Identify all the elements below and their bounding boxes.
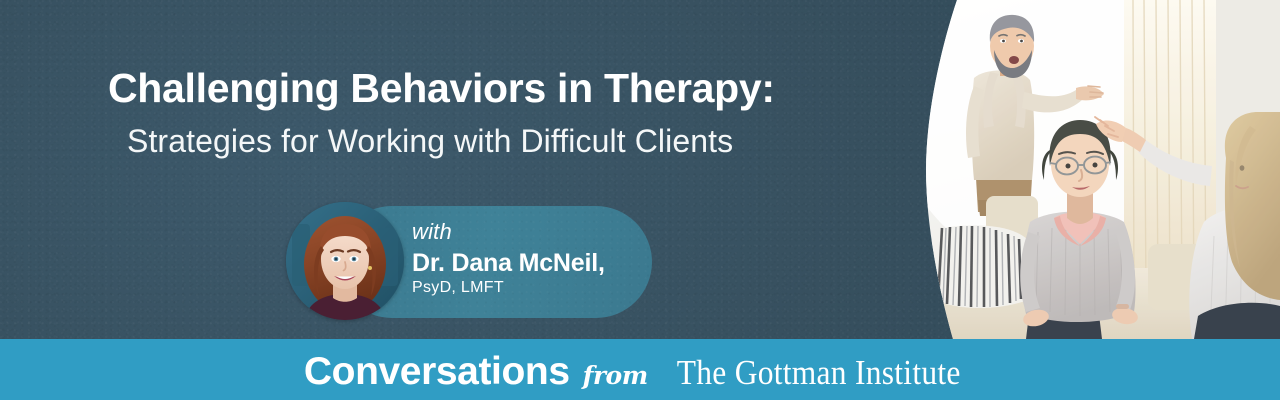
organization-name: The Gottman Institute [676, 355, 960, 390]
avatar [286, 202, 404, 320]
page-title: Challenging Behaviors in Therapy: [108, 66, 868, 112]
speaker-name: Dr. Dana McNeil, [412, 250, 605, 276]
session-photo [920, 0, 1280, 339]
speaker-text-group: with Dr. Dana McNeil, PsyD, LMFT [412, 220, 605, 297]
session-photo-clip [920, 0, 1280, 339]
speaker-with-label: with [412, 220, 605, 244]
series-title: Conversations [304, 352, 570, 391]
webinar-banner: Challenging Behaviors in Therapy: Strate… [0, 0, 1280, 400]
brand-bar: Conversations from The Gottman Institute [0, 339, 1280, 400]
headline-block: Challenging Behaviors in Therapy: Strate… [108, 66, 868, 160]
speaker-credentials: PsyD, LMFT [412, 279, 605, 297]
series-connector: from [583, 363, 648, 388]
brand-lockup: Conversations from The Gottman Institute [304, 352, 976, 391]
page-subtitle: Strategies for Working with Difficult Cl… [127, 123, 868, 160]
